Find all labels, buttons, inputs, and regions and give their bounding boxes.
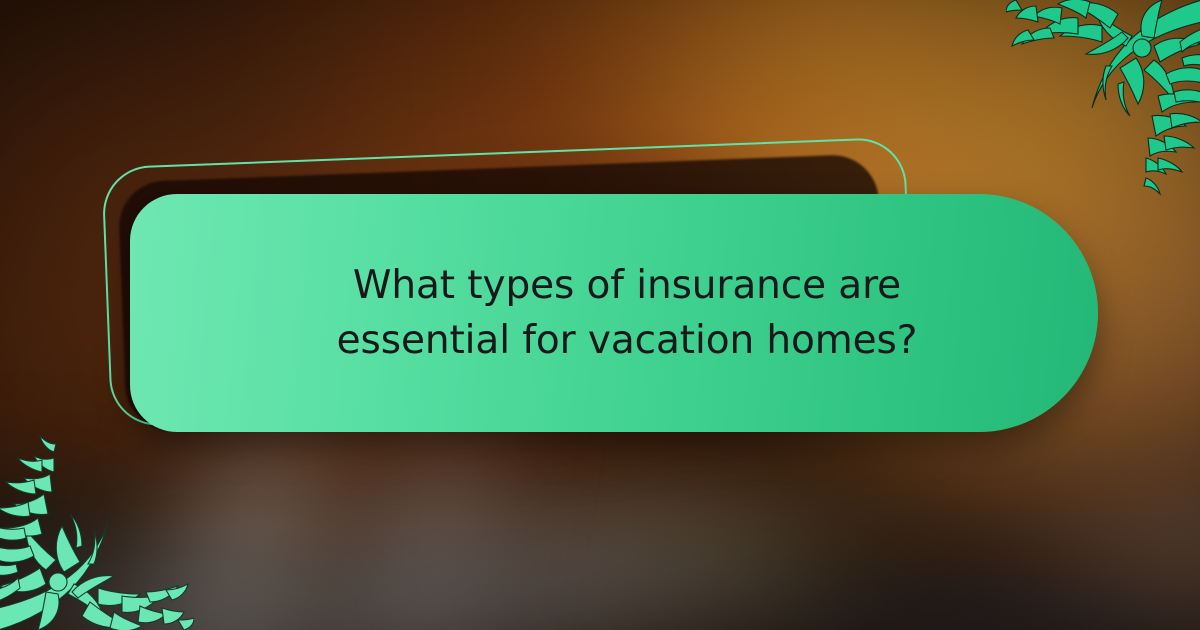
floral-corner-ornament-icon [0, 434, 194, 630]
social-card-canvas: What types of insurance are essential fo… [0, 0, 1200, 630]
floral-corner-ornament-icon [1006, 0, 1200, 196]
question-title: What types of insurance are essential fo… [262, 258, 992, 369]
question-card: What types of insurance are essential fo… [130, 194, 1098, 432]
